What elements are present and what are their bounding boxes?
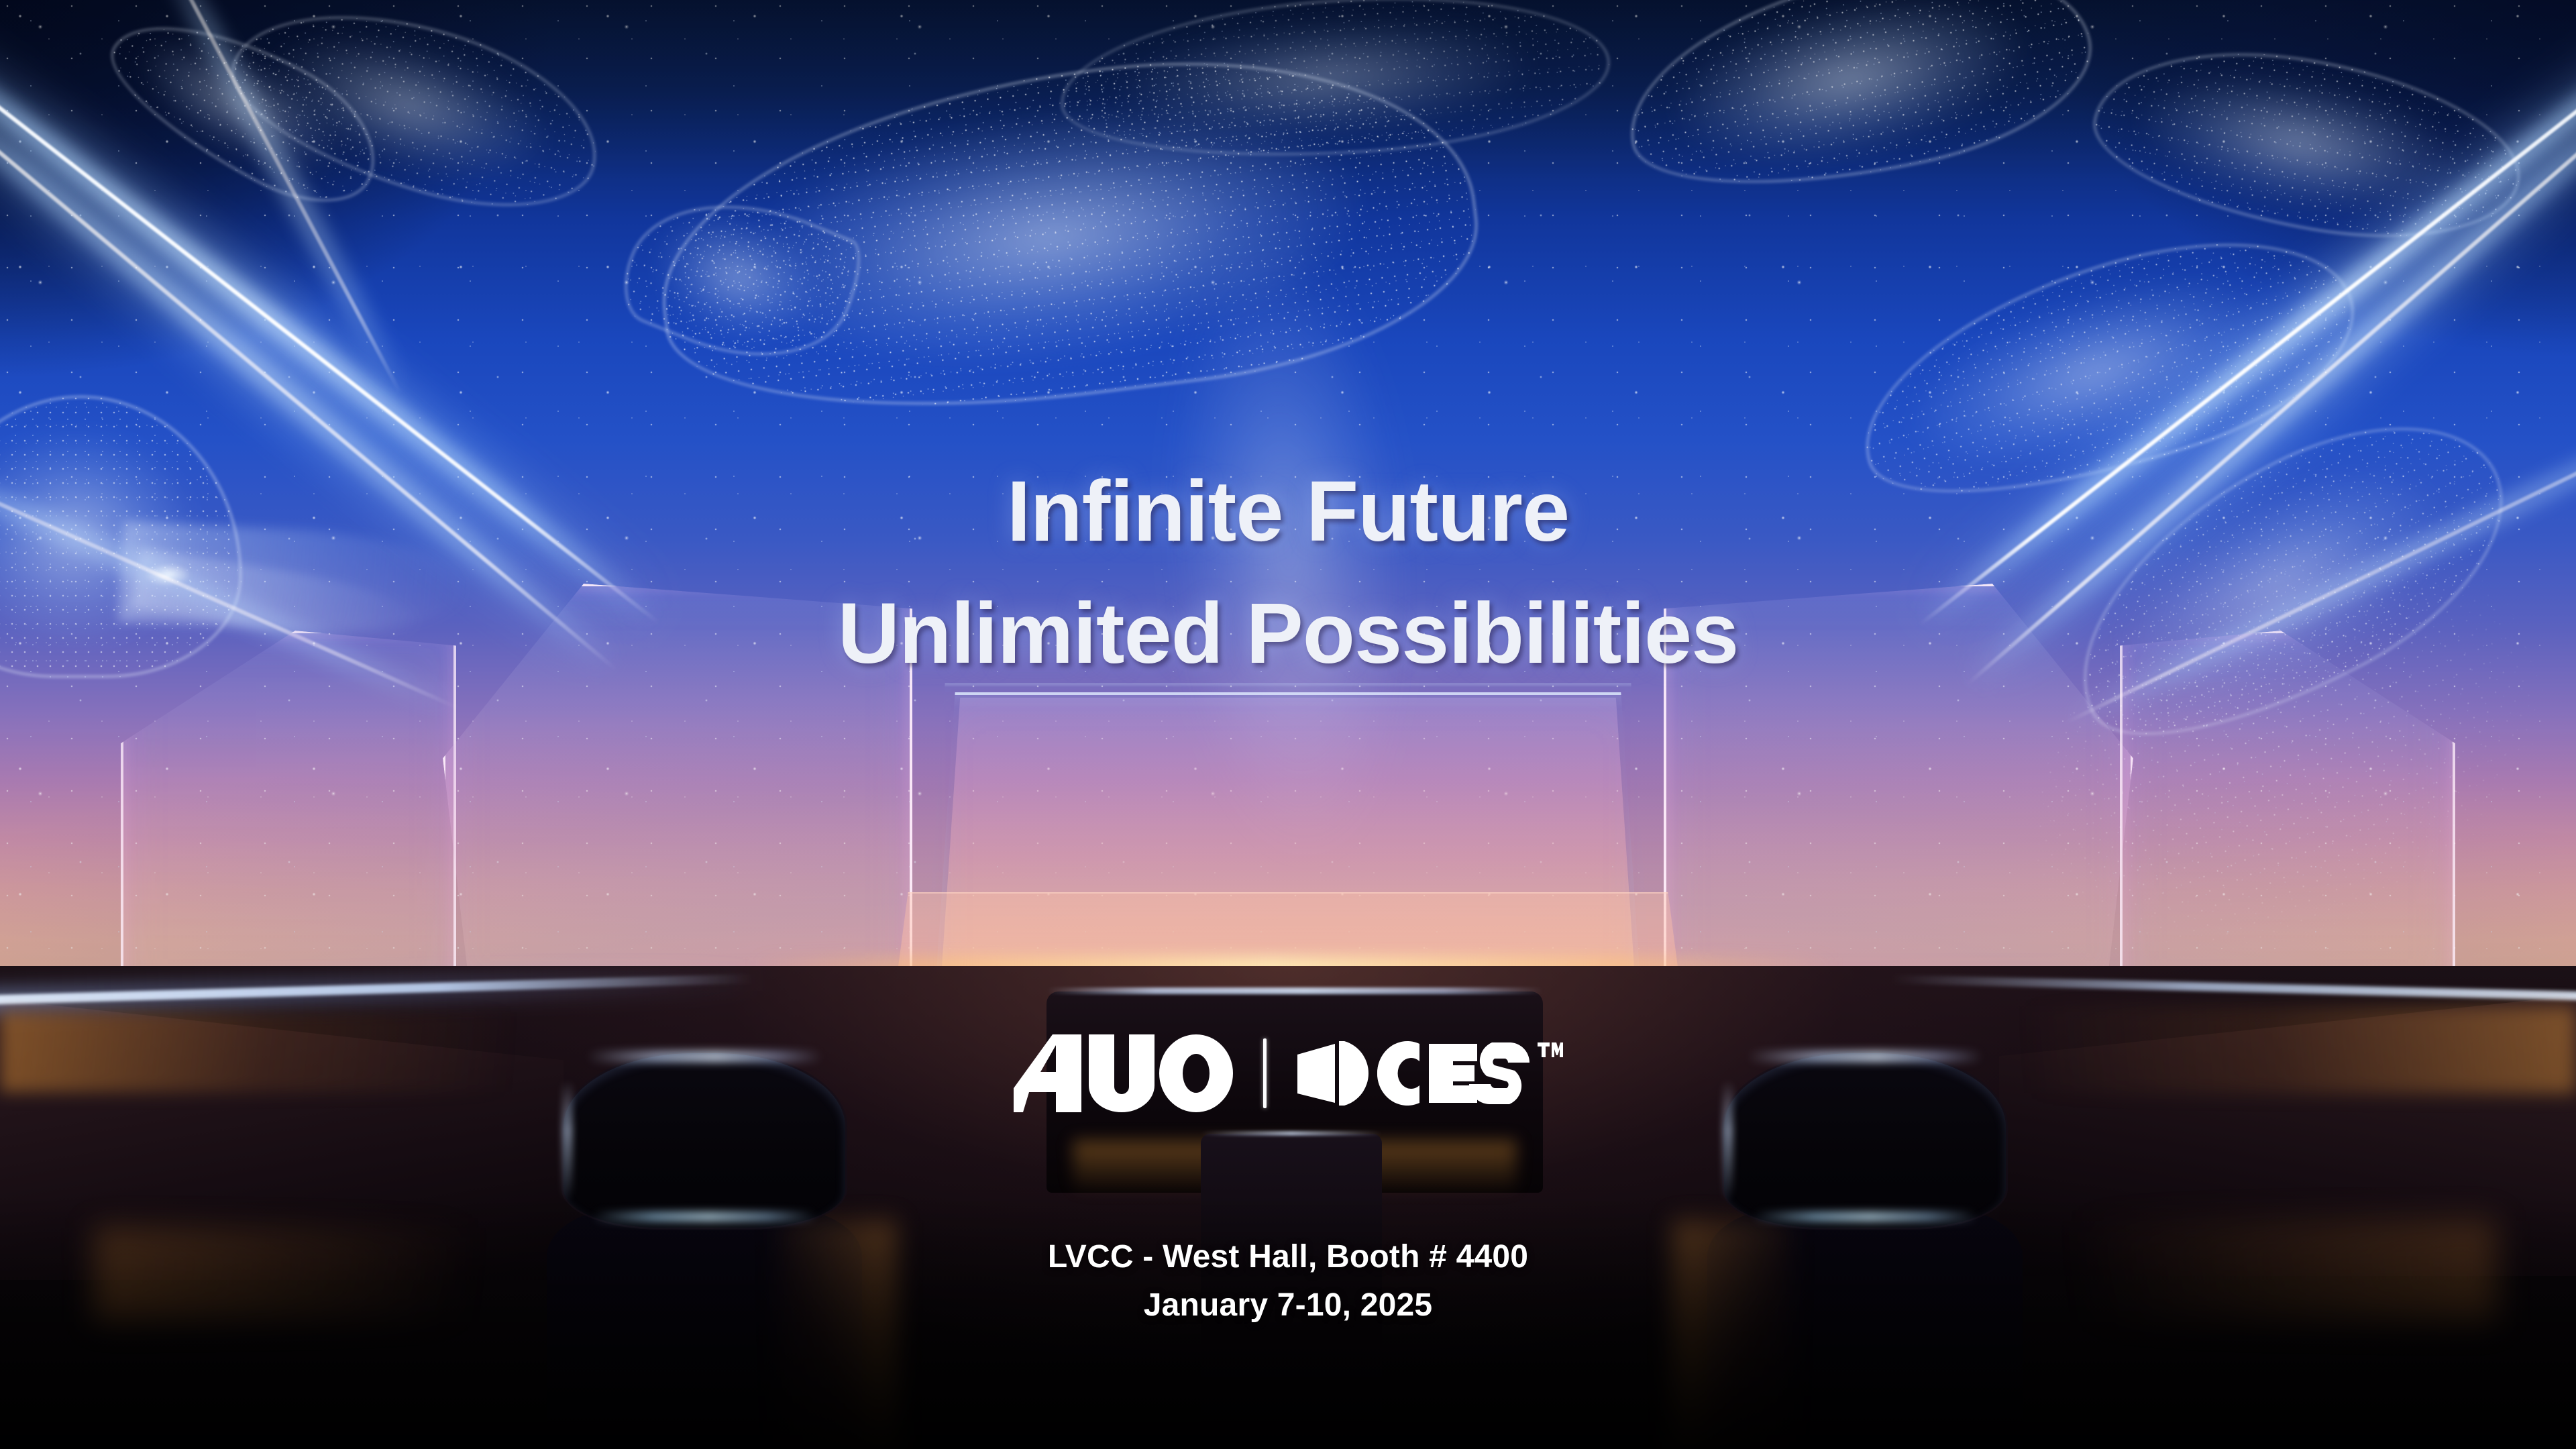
headrest-bottom-highlight	[1752, 1212, 1978, 1222]
ces-logo	[1295, 1034, 1563, 1112]
footer-venue: LVCC - West Hall, Booth # 4400	[0, 1233, 2576, 1281]
key-visual-canvas: Infinite Future Unlimited Possibilities	[0, 0, 2576, 1449]
center-console-light-trim	[1046, 987, 1543, 994]
footer-block: LVCC - West Hall, Booth # 4400 January 7…	[0, 1233, 2576, 1330]
footer-dates: January 7-10, 2025	[0, 1281, 2576, 1330]
headline-block: Infinite Future Unlimited Possibilities	[0, 451, 2576, 695]
logo-lockup	[0, 1034, 2576, 1112]
auo-logo	[1014, 1034, 1235, 1112]
headline-line-2: Unlimited Possibilities	[0, 573, 2576, 695]
headline-line-1: Infinite Future	[0, 451, 2576, 573]
center-tunnel-light-trim	[1201, 1131, 1382, 1136]
logo-divider	[1263, 1038, 1267, 1108]
headrest-bottom-highlight	[592, 1212, 817, 1222]
